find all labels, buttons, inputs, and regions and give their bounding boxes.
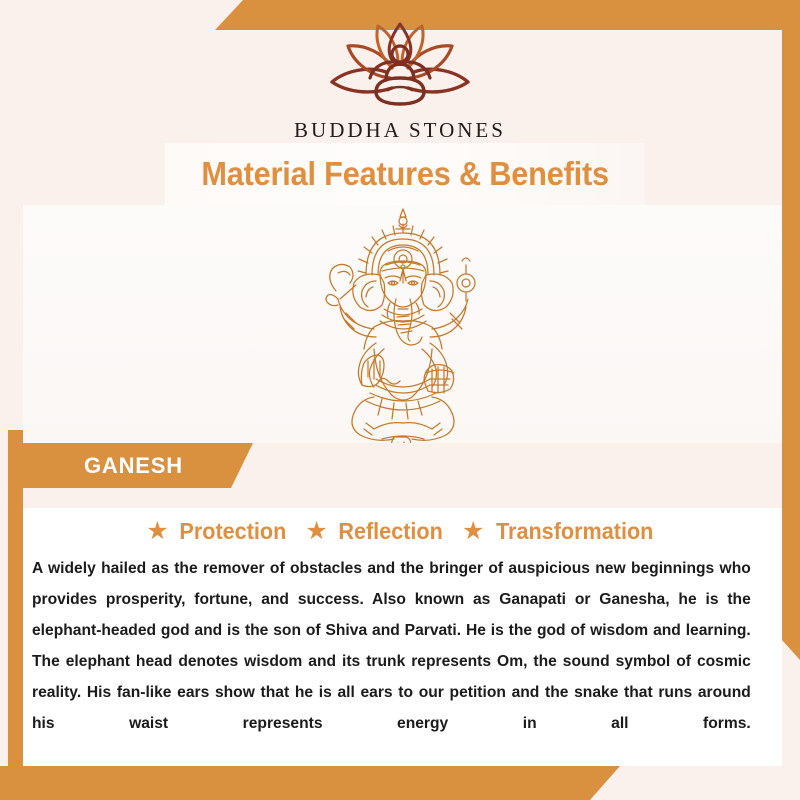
brand-name: BUDDHA STONES xyxy=(294,118,506,143)
description-card: ★ Protection ★ Reflection ★ Transformati… xyxy=(23,508,782,766)
feature-list: ★ Protection ★ Reflection ★ Transformati… xyxy=(23,508,782,545)
star-icon: ★ xyxy=(305,519,327,544)
feature-item-transformation: ★ Transformation xyxy=(462,518,659,545)
title-banner: Material Features & Benefits xyxy=(165,143,645,205)
deity-label-banner: GANESH xyxy=(8,443,253,488)
feature-item-reflection: ★ Reflection xyxy=(305,518,446,545)
ganesh-line-art-icon xyxy=(278,205,528,443)
page-title: Material Features & Benefits xyxy=(201,155,609,193)
star-icon: ★ xyxy=(146,519,168,544)
description-text: A widely hailed as the remover of obstac… xyxy=(32,553,751,739)
deity-label: GANESH xyxy=(84,453,183,479)
feature-item-protection: ★ Protection xyxy=(146,518,289,545)
feature-label-transformation: Transformation xyxy=(496,518,653,545)
feature-label-protection: Protection xyxy=(179,518,286,545)
feature-label-reflection: Reflection xyxy=(338,518,443,545)
hero-image-area xyxy=(23,205,782,443)
bottom-accent-band xyxy=(0,766,620,800)
infographic-page: BUDDHA STONES Material Features & Benefi… xyxy=(0,0,800,800)
brand-logo: BUDDHA STONES xyxy=(0,18,800,143)
star-icon: ★ xyxy=(462,519,484,544)
lotus-meditation-icon xyxy=(316,18,484,114)
